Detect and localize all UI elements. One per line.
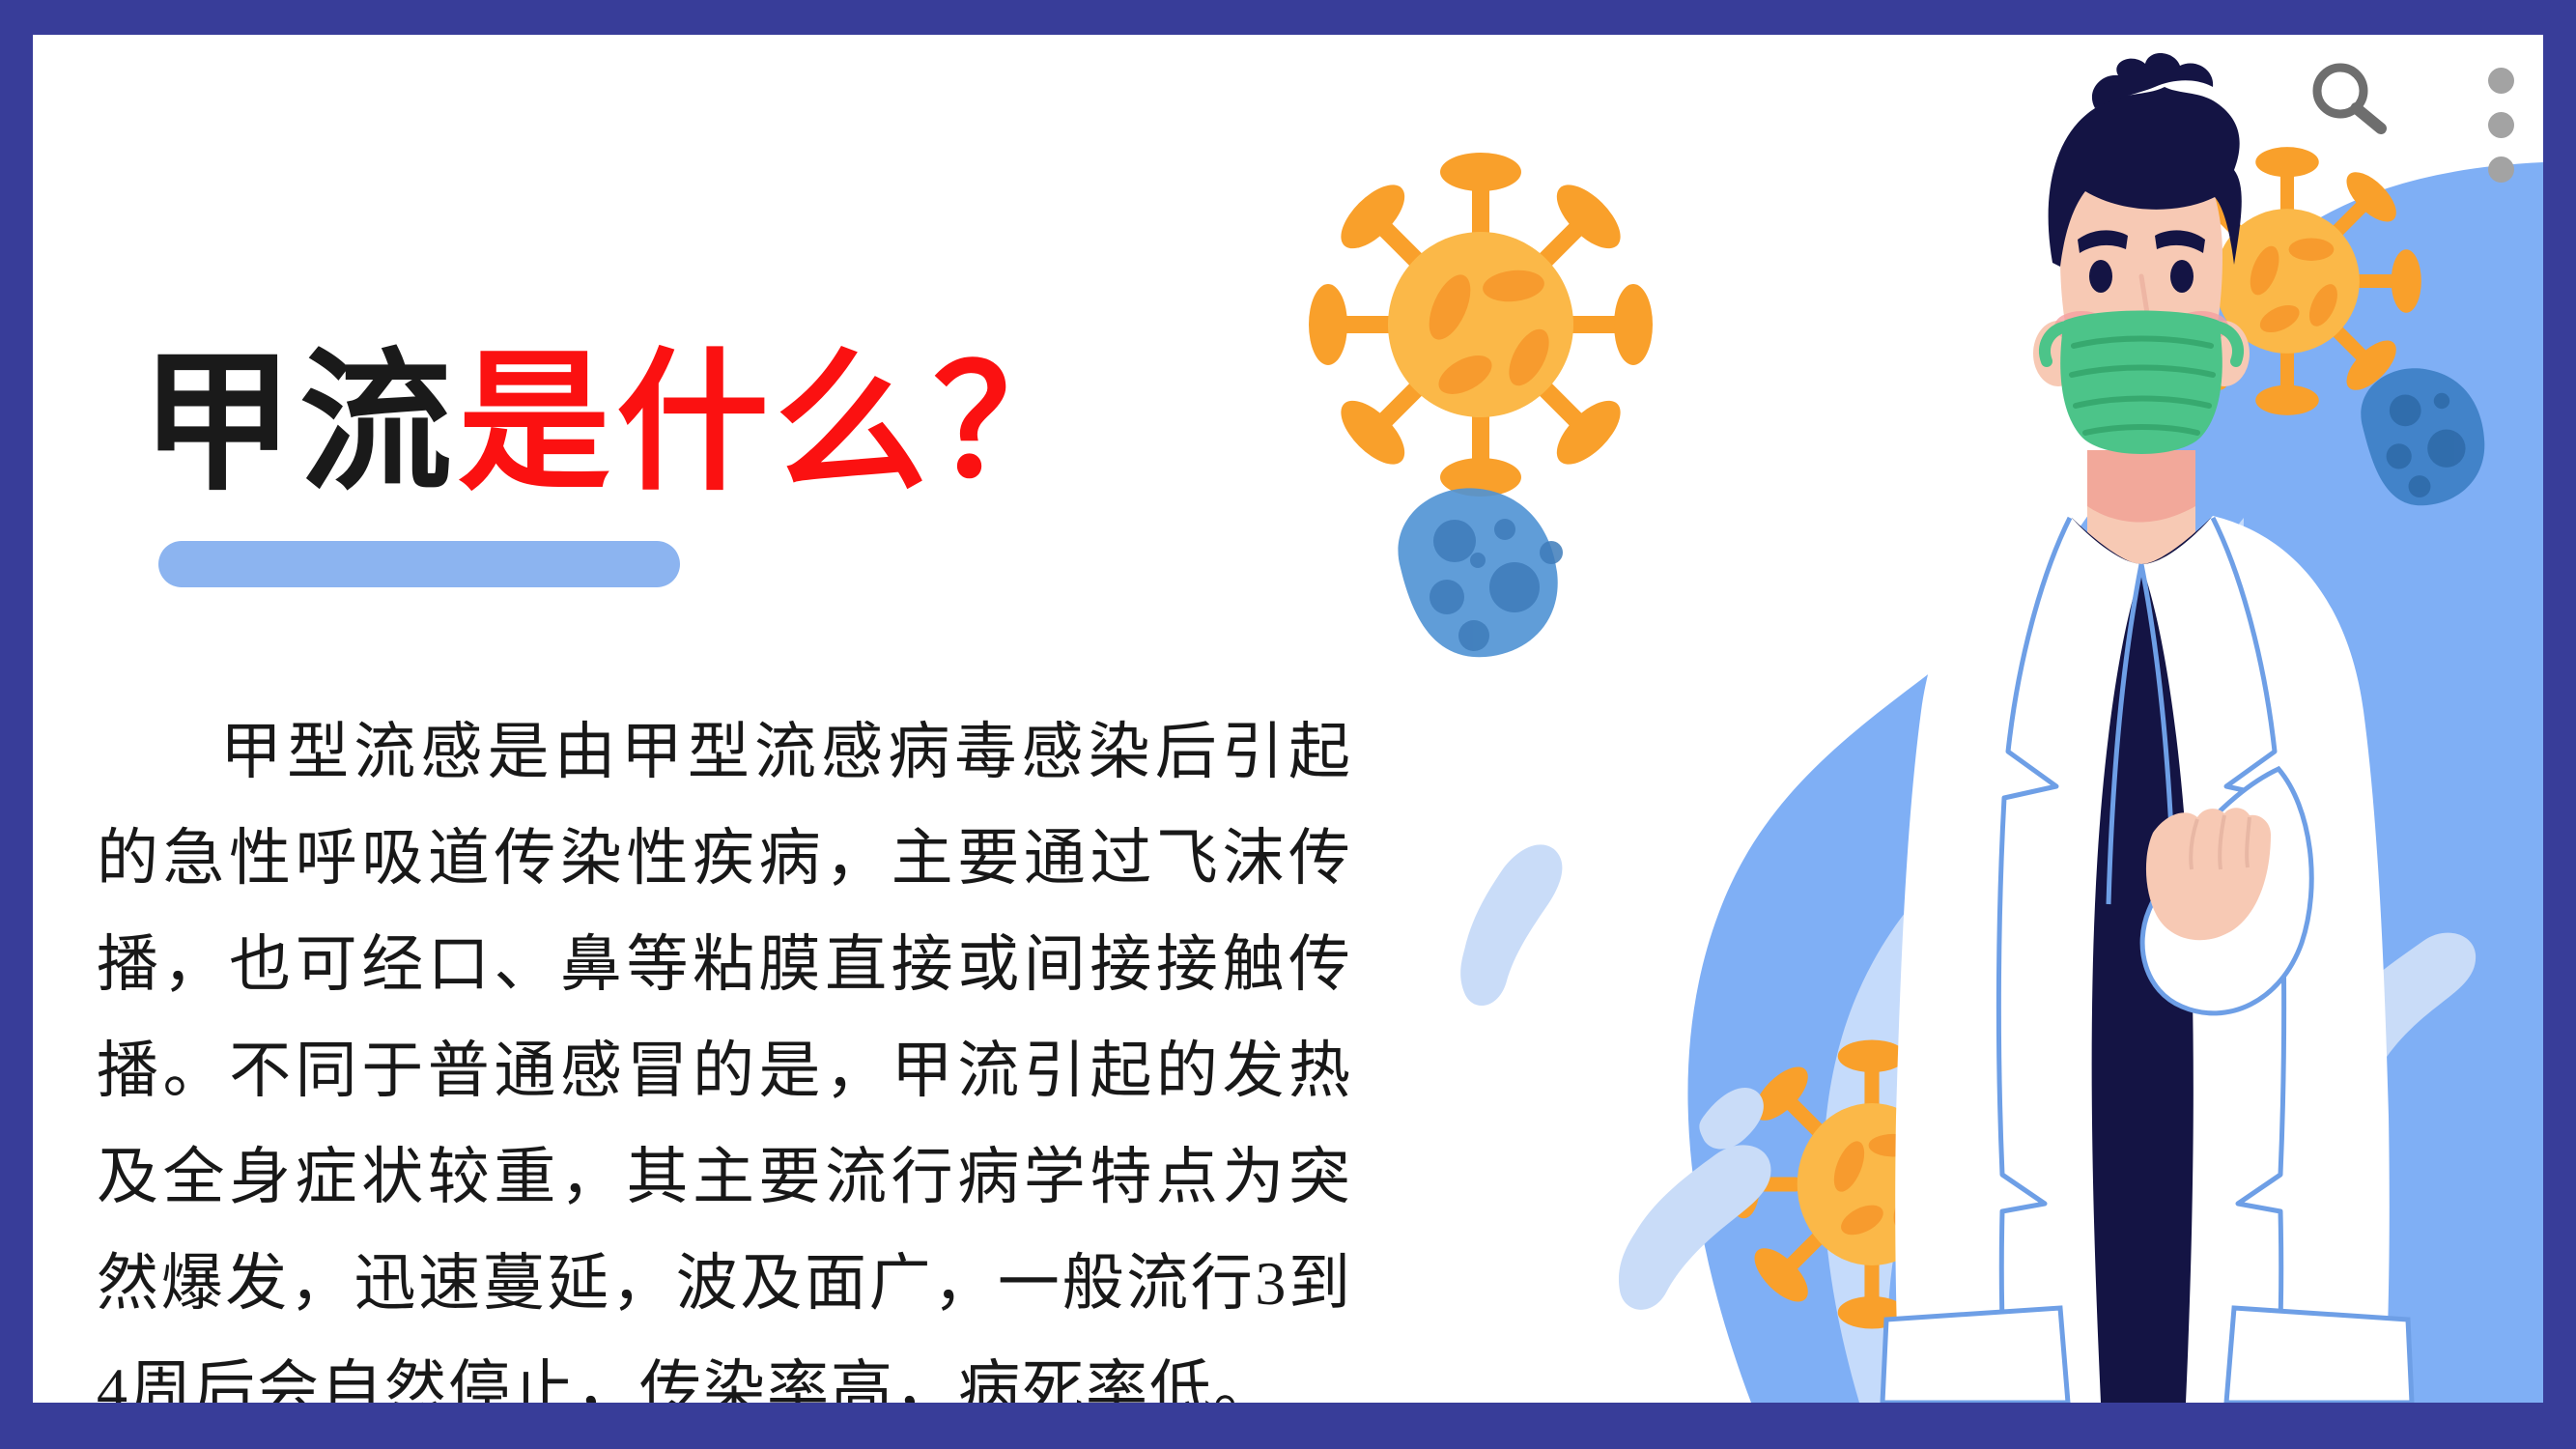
virus-top-left (1309, 153, 1653, 497)
slide-frame: 甲流是什么？ 甲型流感是由甲型流感病毒感染后引起的急性呼吸道传染性疾病，主要通过… (0, 0, 2576, 1449)
toolbar (2303, 56, 2514, 183)
doctor-eye-left (2089, 260, 2112, 293)
page-title-accent: 是什么？ (458, 338, 1091, 508)
more-vertical-icon (2488, 56, 2514, 183)
search-icon (2303, 56, 2395, 149)
virus-body (1388, 232, 1573, 417)
doctor-virus-illustration (1268, 35, 2543, 1403)
title-underline-bar (158, 541, 680, 587)
kebab-dot-3 (2488, 156, 2514, 183)
search-button[interactable] (2303, 56, 2395, 149)
page-title: 甲流是什么？ (141, 344, 1091, 504)
kebab-dot-2 (2488, 112, 2514, 138)
page-title-primary: 甲流 (141, 338, 458, 508)
illustration-svg (1268, 35, 2543, 1403)
kebab-dot-1 (2488, 68, 2514, 94)
more-options-button[interactable] (2488, 56, 2514, 183)
bacteria-left (1398, 488, 1563, 657)
slide-canvas: 甲流是什么？ 甲型流感是由甲型流感病毒感染后引起的急性呼吸道传染性疾病，主要通过… (33, 35, 2543, 1403)
doctor-eye-right (2170, 260, 2194, 293)
body-paragraph: 甲型流感是由甲型流感病毒感染后引起的急性呼吸道传染性疾病，主要通过飞沫传播，也可… (97, 699, 1352, 1403)
doctor-neck-shadow (2087, 450, 2195, 523)
